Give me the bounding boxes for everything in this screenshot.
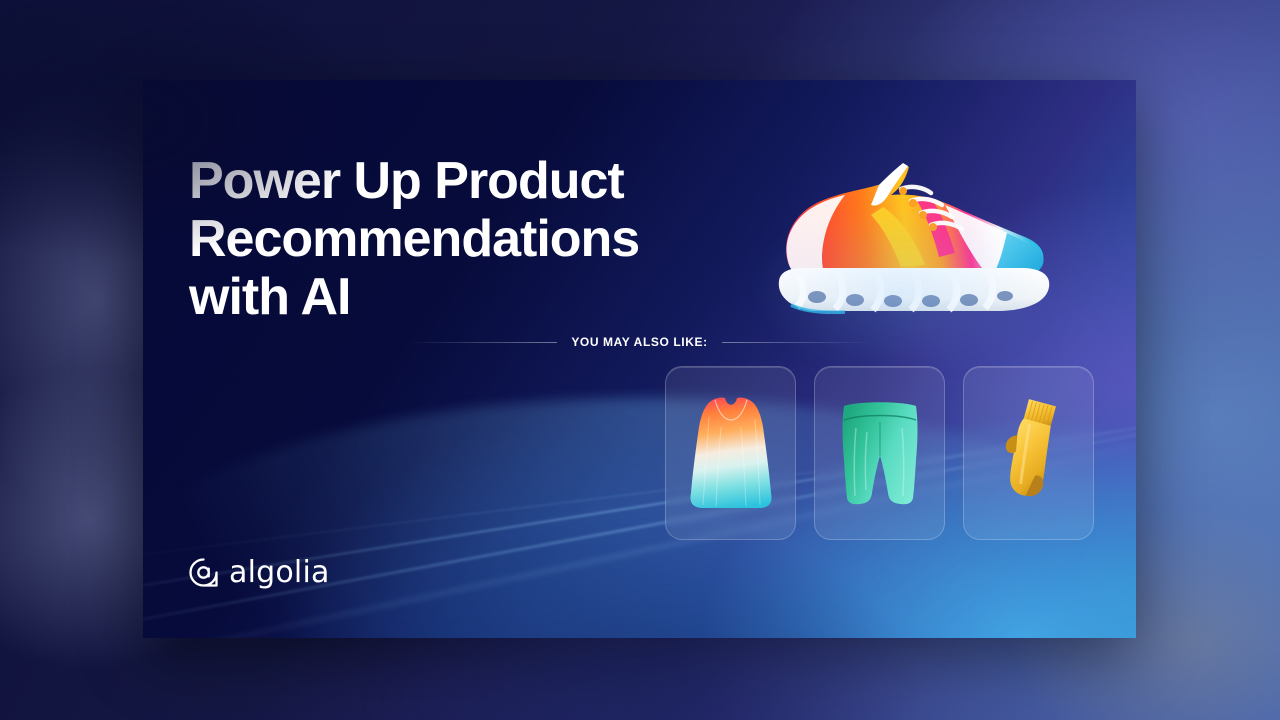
sock-icon [985, 393, 1073, 513]
headline-line-1: Power Up Product [189, 152, 709, 210]
divider-left [409, 342, 557, 343]
product-card-tank-top[interactable] [665, 366, 796, 540]
tank-top-icon [685, 393, 777, 513]
recommendations-header: YOU MAY ALSO LIKE: [143, 335, 1136, 349]
divider-right [722, 342, 870, 343]
recommendations-label: YOU MAY ALSO LIKE: [557, 335, 721, 349]
product-card-bike-shorts[interactable] [814, 366, 945, 540]
headline-line-3: with AI [189, 268, 709, 326]
brand-name: algolia [229, 555, 330, 590]
promo-banner: Power Up Product Recommendations with AI [143, 80, 1136, 638]
page-title: Power Up Product Recommendations with AI [189, 152, 709, 327]
bike-shorts-icon [832, 398, 928, 508]
product-card-sock[interactable] [963, 366, 1094, 540]
headline-line-2: Recommendations [189, 210, 709, 268]
page-background: Power Up Product Recommendations with AI [0, 0, 1280, 720]
brand-logo[interactable]: algolia [189, 555, 330, 590]
hero-product-sneaker [733, 135, 1063, 325]
recommended-products-list [665, 366, 1094, 540]
algolia-logo-icon [189, 558, 218, 587]
